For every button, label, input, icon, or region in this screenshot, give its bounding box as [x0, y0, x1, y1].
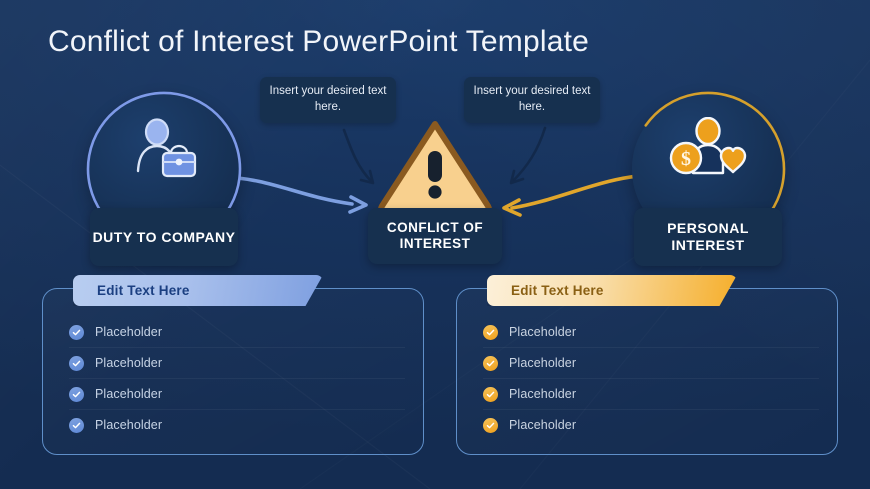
- list-item-label: Placeholder: [95, 418, 162, 432]
- page-title: Conflict of Interest PowerPoint Template: [48, 25, 589, 59]
- list-item-label: Placeholder: [95, 325, 162, 339]
- node-label-duty-to-company: DUTY TO COMPANY: [90, 208, 238, 266]
- check-circle-icon: [69, 325, 84, 340]
- check-circle-icon: [483, 356, 498, 371]
- check-circle-icon: [69, 418, 84, 433]
- list-item[interactable]: Placeholder: [483, 317, 819, 348]
- arrow-note-right-down: [511, 128, 545, 183]
- panel-left: Edit Text Here Placeholder Placeholder P…: [42, 288, 424, 455]
- note-box-right[interactable]: Insert your desired text here.: [464, 77, 600, 123]
- person-briefcase-icon: [88, 117, 240, 183]
- panel-right-items: Placeholder Placeholder Placeholder Plac…: [483, 317, 819, 440]
- panel-left-header-label: Edit Text Here: [97, 283, 190, 298]
- check-circle-icon: [69, 387, 84, 402]
- note-left-text: Insert your desired text here.: [260, 84, 396, 115]
- slide-canvas: Conflict of Interest PowerPoint Template…: [0, 0, 870, 489]
- panel-right-header[interactable]: Edit Text Here: [487, 275, 737, 306]
- list-item[interactable]: Placeholder: [69, 348, 405, 379]
- list-item-label: Placeholder: [509, 387, 576, 401]
- list-item[interactable]: Placeholder: [69, 317, 405, 348]
- list-item[interactable]: Placeholder: [69, 410, 405, 440]
- list-item[interactable]: Placeholder: [483, 348, 819, 379]
- check-circle-icon: [483, 418, 498, 433]
- panel-left-header[interactable]: Edit Text Here: [73, 275, 323, 306]
- list-item-label: Placeholder: [95, 387, 162, 401]
- note-right-text: Insert your desired text here.: [464, 84, 600, 115]
- check-circle-icon: [483, 387, 498, 402]
- arrow-note-left-down: [344, 130, 373, 183]
- person-money-heart-icon: $: [632, 117, 784, 183]
- panel-right-header-label: Edit Text Here: [511, 283, 604, 298]
- list-item-label: Placeholder: [95, 356, 162, 370]
- note-box-left[interactable]: Insert your desired text here.: [260, 77, 396, 123]
- list-item-label: Placeholder: [509, 418, 576, 432]
- node-label-personal-interest: PERSONAL INTEREST: [634, 208, 782, 266]
- check-circle-icon: [483, 325, 498, 340]
- check-circle-icon: [69, 356, 84, 371]
- svg-text:$: $: [681, 148, 691, 170]
- panel-right: Edit Text Here Placeholder Placeholder P…: [456, 288, 838, 455]
- panel-left-items: Placeholder Placeholder Placeholder Plac…: [69, 317, 405, 440]
- list-item[interactable]: Placeholder: [483, 410, 819, 440]
- list-item-label: Placeholder: [509, 325, 576, 339]
- list-item[interactable]: Placeholder: [69, 379, 405, 410]
- list-item-label: Placeholder: [509, 356, 576, 370]
- node-label-conflict-of-interest: CONFLICT OF INTEREST: [368, 208, 502, 264]
- warning-triangle-icon: [376, 118, 494, 214]
- list-item[interactable]: Placeholder: [483, 379, 819, 410]
